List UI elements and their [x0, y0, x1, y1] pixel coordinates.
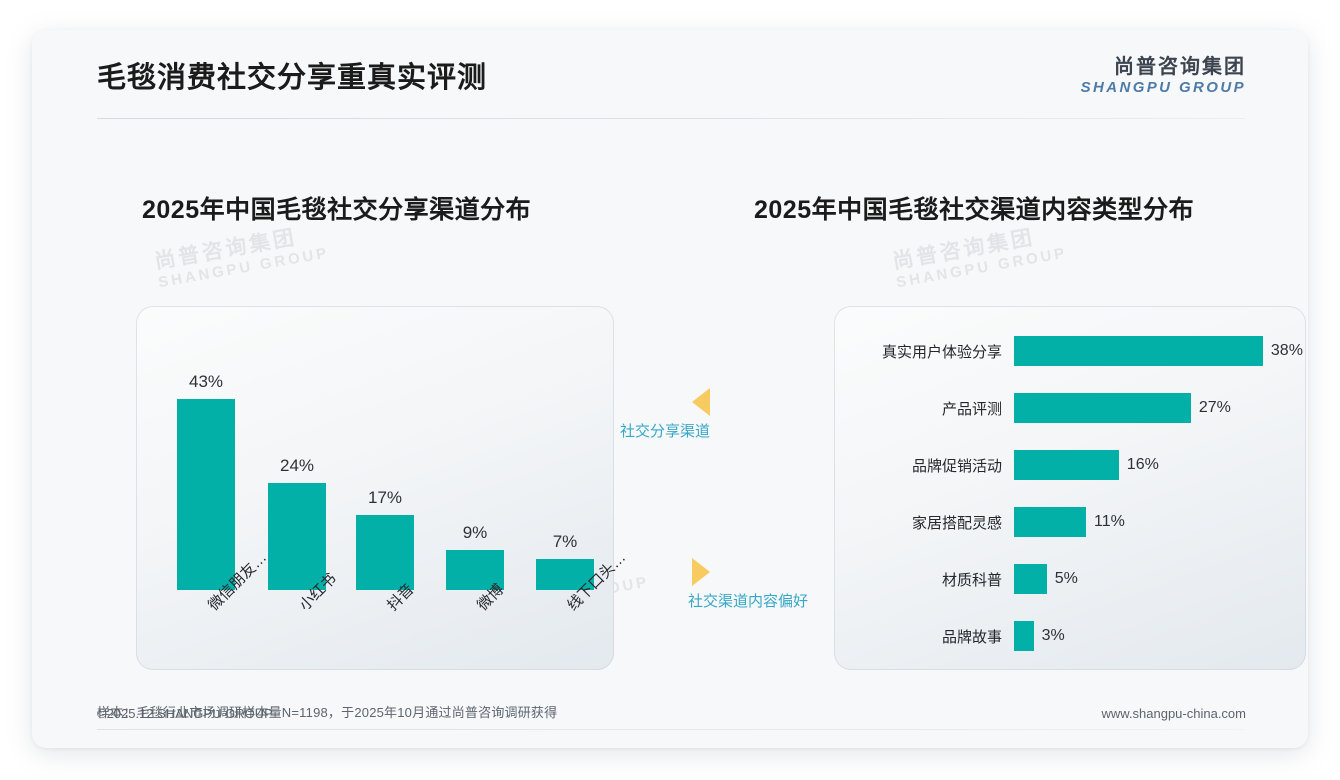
slide-footer: ©2025.12 SHANGPU GROUP www.shangpu-china…: [32, 694, 1308, 748]
chart-title-right: 2025年中国毛毯社交渠道内容类型分布: [754, 190, 1194, 226]
triangle-right-icon: [692, 558, 710, 586]
logo-chinese-text: 尚普咨询集团: [1081, 56, 1246, 79]
slide-header: 毛毯消费社交分享重真实评测 尚普咨询集团 SHANGPU GROUP: [32, 30, 1308, 120]
annotation-label: 社交分享渠道: [620, 420, 710, 441]
bar-value-label: 11%: [1094, 513, 1125, 531]
logo-english-text: SHANGPU GROUP: [1081, 79, 1246, 97]
bar-value-label: 3%: [1042, 627, 1065, 645]
watermark-en: SHANGPU GROUP: [895, 244, 1069, 291]
bar[interactable]: 17%: [356, 515, 414, 590]
bar-value-label: 24%: [280, 456, 314, 476]
website-url[interactable]: www.shangpu-china.com: [1101, 706, 1246, 721]
bar-value-label: 16%: [1127, 456, 1159, 474]
horizontal-bar-chart: 真实用户体验分享38%产品评测27%品牌促销活动16%家居搭配灵感11%材质科普…: [834, 306, 1306, 670]
page-title: 毛毯消费社交分享重真实评测: [97, 54, 487, 96]
bar-value-label: 17%: [368, 488, 402, 508]
bar[interactable]: [1014, 450, 1119, 480]
bar-row: 产品评测27%: [834, 391, 1306, 425]
chart-title-left: 2025年中国毛毯社交分享渠道分布: [142, 190, 531, 226]
bar-value-label: 38%: [1271, 342, 1303, 360]
y-axis-tick-label: 品牌促销活动: [834, 455, 1014, 476]
copyright-text: ©2025.12 SHANGPU GROUP: [97, 706, 273, 721]
y-axis-tick-label: 家居搭配灵感: [834, 512, 1014, 533]
annotation-social-share-channel: 社交分享渠道: [620, 388, 710, 441]
bar-value-label: 5%: [1055, 570, 1078, 588]
brand-logo: 尚普咨询集团 SHANGPU GROUP: [1081, 56, 1246, 97]
bar-value-label: 9%: [463, 523, 488, 543]
bar-row: 真实用户体验分享38%: [834, 334, 1306, 368]
bar-row: 品牌促销活动16%: [834, 448, 1306, 482]
header-divider: [97, 118, 1245, 119]
annotation-label: 社交渠道内容偏好: [688, 590, 808, 611]
bar[interactable]: [1014, 621, 1034, 651]
y-axis-tick-label: 品牌故事: [834, 626, 1014, 647]
vertical-bar-chart: 43%微信朋友…24%小红书17%抖音9%微博7%线下口头…: [136, 306, 614, 670]
bar[interactable]: [1014, 336, 1263, 366]
y-axis-tick-label: 真实用户体验分享: [834, 341, 1014, 362]
bar-row: 品牌故事3%: [834, 619, 1306, 653]
watermark-en: SHANGPU GROUP: [157, 244, 331, 291]
bar[interactable]: [1014, 393, 1191, 423]
bar-row: 家居搭配灵感11%: [834, 505, 1306, 539]
annotation-content-preference: 社交渠道内容偏好: [688, 558, 808, 611]
bar[interactable]: [1014, 507, 1086, 537]
bar-value-label: 27%: [1199, 399, 1231, 417]
triangle-left-icon: [692, 388, 710, 416]
bar-value-label: 7%: [553, 532, 578, 552]
watermark: 尚普咨询集团 SHANGPU GROUP: [890, 216, 1069, 291]
y-axis-tick-label: 产品评测: [834, 398, 1014, 419]
bar-row: 材质科普5%: [834, 562, 1306, 596]
bar-value-label: 43%: [189, 372, 223, 392]
bar[interactable]: 43%: [177, 399, 235, 590]
slide-card: 毛毯消费社交分享重真实评测 尚普咨询集团 SHANGPU GROUP 2025年…: [32, 30, 1308, 748]
bar[interactable]: 24%: [268, 483, 326, 590]
watermark: 尚普咨询集团 SHANGPU GROUP: [152, 216, 331, 291]
y-axis-tick-label: 材质科普: [834, 569, 1014, 590]
bar[interactable]: [1014, 564, 1047, 594]
